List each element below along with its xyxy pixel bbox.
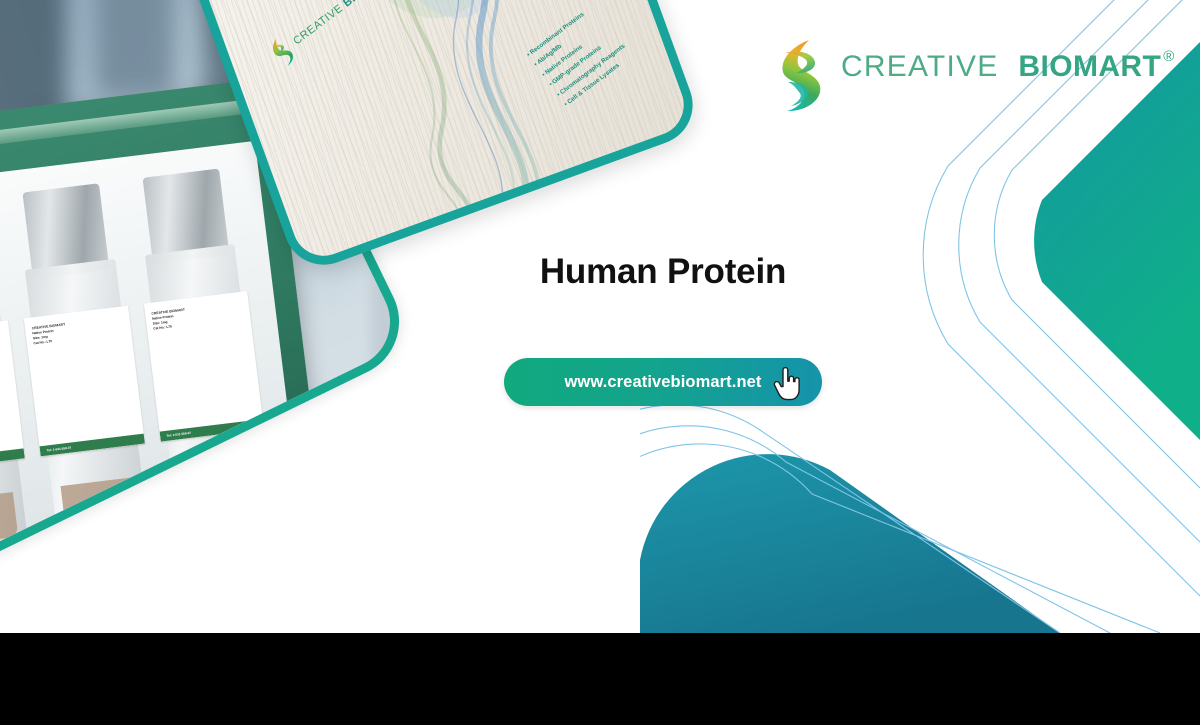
blue-mound-shape bbox=[640, 454, 1060, 633]
vial-label: CREATIVE BIOMART Native Protein Size: 1m… bbox=[24, 306, 144, 457]
vial-label: CREATIVE BIOMART Native Protein Size: 1m… bbox=[0, 320, 25, 471]
outline-curve-group-bottom bbox=[640, 405, 1160, 633]
leaf-helix-icon bbox=[775, 38, 827, 112]
page-title-text: Human Protein bbox=[540, 252, 786, 291]
foam-insert: CREATIVE BIOMART Native Protein Size: 1m… bbox=[0, 141, 301, 607]
banner-canvas: CREATIVE BIOMART Native Protein Size: 1m… bbox=[0, 0, 1200, 633]
logo-word-biomart: BIOMART bbox=[1018, 50, 1161, 84]
website-cta-button[interactable]: www.creativebiomart.net bbox=[504, 358, 822, 406]
website-cta-label: www.creativebiomart.net bbox=[565, 373, 762, 392]
page-title: Human Protein bbox=[0, 252, 1200, 292]
vial-label: CREATIVE BIOMART Native Protein Size: 1m… bbox=[144, 291, 264, 442]
hand-pointer-icon bbox=[772, 367, 802, 401]
logo-word-creative: CREATIVE bbox=[841, 50, 998, 84]
logo-registered-mark: ® bbox=[1163, 48, 1174, 65]
creative-biomart-logo[interactable]: CREATIVE BIOMART ® bbox=[775, 38, 1174, 112]
footer-black-bar bbox=[0, 633, 1200, 725]
vial-item: CREATIVE BIOMART Native Protein Size: 1m… bbox=[124, 166, 279, 525]
